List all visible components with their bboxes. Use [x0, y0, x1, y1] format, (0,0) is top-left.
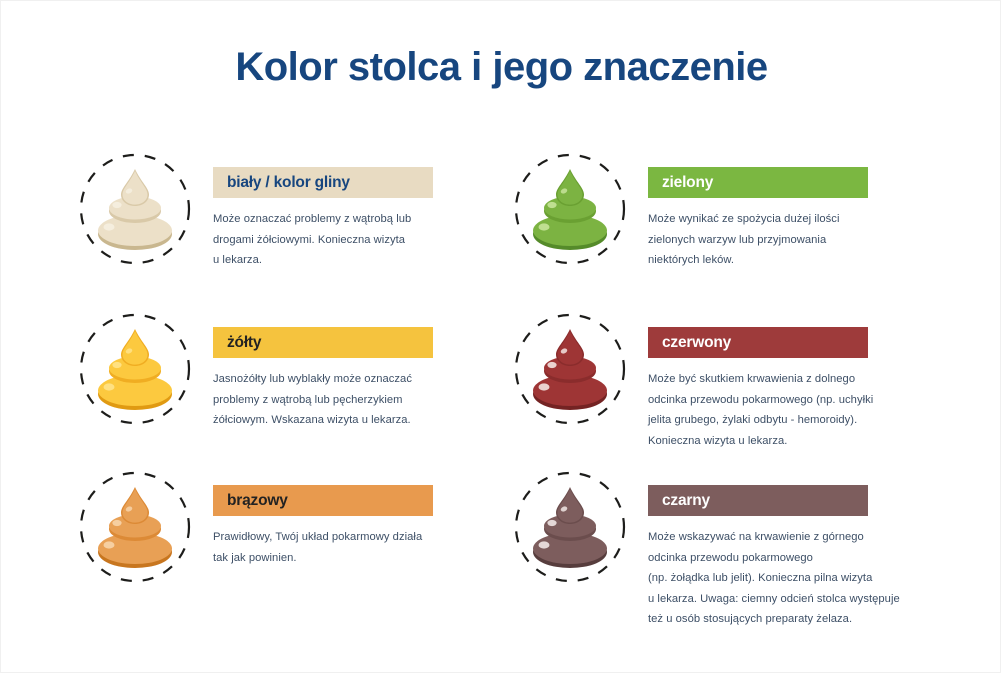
icon-container: [513, 312, 627, 426]
entry-text-block: brązowyPrawidłowy, Twój układ pokarmowy …: [213, 485, 508, 568]
entry-text-block: czarnyMoże wskazywać na krwawienie z gór…: [648, 485, 943, 630]
description-line: jelita grubego, żylaki odbytu - hemoroid…: [648, 410, 943, 431]
color-label-text: żółty: [227, 334, 261, 352]
description-line: drogami żółciowymi. Konieczna wizyta: [213, 230, 508, 251]
entry-description: Prawidłowy, Twój układ pokarmowy działat…: [213, 527, 508, 568]
description-line: Prawidłowy, Twój układ pokarmowy działa: [213, 527, 508, 548]
description-line: Może oznaczać problemy z wątrobą lub: [213, 209, 508, 230]
description-line: odcinka przewodu pokarmowego (np. uchyłk…: [648, 390, 943, 411]
description-line: Konieczna wizyta u lekarza.: [648, 431, 943, 452]
color-label-text: czerwony: [662, 334, 731, 352]
entry-description: Jasnożółty lub wyblakły może oznaczaćpro…: [213, 369, 508, 431]
stool-icon-yellow: [95, 326, 175, 412]
description-line: niektórych leków.: [648, 250, 943, 271]
color-label-bar: brązowy: [213, 485, 433, 516]
entry-text-block: żółtyJasnożółty lub wyblakły może oznacz…: [213, 327, 508, 431]
entry-description: Może wynikać ze spożycia dużej ilościzie…: [648, 209, 943, 271]
description-line: odcinka przewodu pokarmowego: [648, 548, 943, 569]
description-line: u lekarza.: [213, 250, 508, 271]
description-line: Może być skutkiem krwawienia z dolnego: [648, 369, 943, 390]
entry-description: Może być skutkiem krwawienia z dolnegood…: [648, 369, 943, 451]
color-label-bar: czarny: [648, 485, 868, 516]
color-label-text: czarny: [662, 492, 710, 510]
stool-icon-red: [530, 326, 610, 412]
color-label-bar: czerwony: [648, 327, 868, 358]
stool-icon-white-clay: [95, 166, 175, 252]
entry-text-block: zielonyMoże wynikać ze spożycia dużej il…: [648, 167, 943, 271]
icon-container: [78, 312, 192, 426]
entry-czerwony: czerwonyMoże być skutkiem krwawienia z d…: [508, 309, 943, 459]
entry-description: Może oznaczać problemy z wątrobą lubdrog…: [213, 209, 508, 271]
entry-description: Może wskazywać na krwawienie z górnegood…: [648, 527, 943, 630]
page-title: Kolor stolca i jego znaczenie: [1, 45, 1001, 90]
icon-container: [513, 470, 627, 584]
icon-container: [78, 152, 192, 266]
description-line: żółciowym. Wskazana wizyta u lekarza.: [213, 410, 508, 431]
color-label-text: biały / kolor gliny: [227, 174, 350, 192]
description-line: Może wskazywać na krwawienie z górnego: [648, 527, 943, 548]
stool-icon-black: [530, 484, 610, 570]
description-line: problemy z wątrobą lub pęcherzykiem: [213, 390, 508, 411]
description-line: tak jak powinien.: [213, 548, 508, 569]
entry-zielony: zielonyMoże wynikać ze spożycia dużej il…: [508, 149, 943, 299]
description-line: Jasnożółty lub wyblakły może oznaczać: [213, 369, 508, 390]
color-label-bar: zielony: [648, 167, 868, 198]
entry-text-block: czerwonyMoże być skutkiem krwawienia z d…: [648, 327, 943, 451]
description-line: też u osób stosujących preparaty żelaza.: [648, 609, 943, 630]
color-label-text: brązowy: [227, 492, 288, 510]
color-label-text: zielony: [662, 174, 713, 192]
color-label-bar: biały / kolor gliny: [213, 167, 433, 198]
stool-icon-brown: [95, 484, 175, 570]
icon-container: [78, 470, 192, 584]
description-line: u lekarza. Uwaga: ciemny odcień stolca w…: [648, 589, 943, 610]
entry-brazowy: brązowyPrawidłowy, Twój układ pokarmowy …: [73, 467, 508, 617]
icon-container: [513, 152, 627, 266]
entry-zolty: żółtyJasnożółty lub wyblakły może oznacz…: [73, 309, 508, 459]
description-line: (np. żołądka lub jelit). Konieczna pilna…: [648, 568, 943, 589]
description-line: Może wynikać ze spożycia dużej ilości: [648, 209, 943, 230]
stool-icon-green: [530, 166, 610, 252]
entry-bialy-kolor-gliny: biały / kolor glinyMoże oznaczać problem…: [73, 149, 508, 299]
entry-czarny: czarnyMoże wskazywać na krwawienie z gór…: [508, 467, 943, 617]
entry-text-block: biały / kolor glinyMoże oznaczać problem…: [213, 167, 508, 271]
infographic-page: Kolor stolca i jego znaczenie biały / ko…: [0, 0, 1001, 673]
description-line: zielonych warzyw lub przyjmowania: [648, 230, 943, 251]
color-label-bar: żółty: [213, 327, 433, 358]
